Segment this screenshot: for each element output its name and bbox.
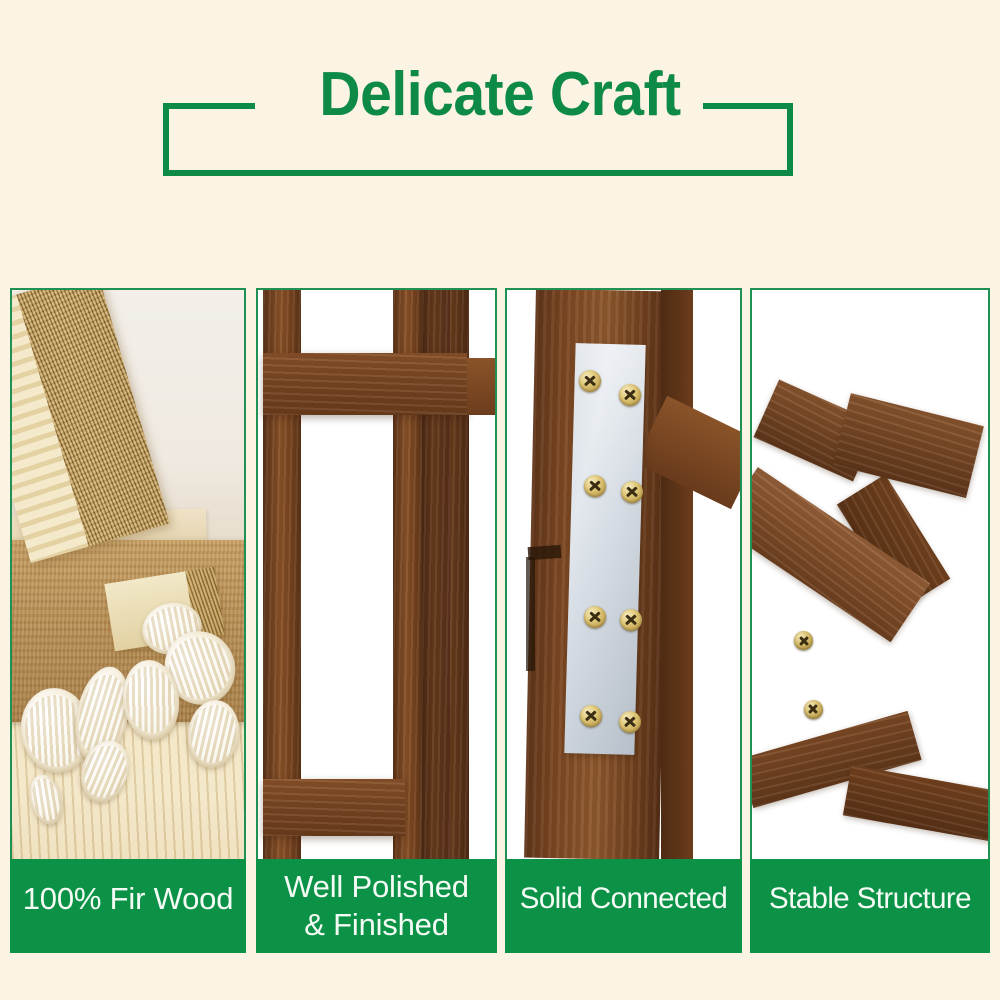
horizontal-rail-lower	[263, 779, 405, 836]
screw-head	[804, 700, 823, 719]
photo-solid-connected-art	[507, 290, 740, 859]
feature-panel-grid: 100% Fir Wood Well Polished & Finished	[0, 288, 1000, 953]
page-title: Delicate Craft	[40, 64, 960, 126]
photo-well-polished	[256, 288, 497, 859]
caption-stable-structure: Stable Structure	[750, 859, 990, 953]
photo-fir-wood-art	[12, 290, 244, 859]
photo-well-polished-art	[258, 290, 495, 859]
screw-icon	[619, 711, 641, 733]
screw-icon	[584, 606, 606, 628]
caption-well-polished: Well Polished & Finished	[256, 859, 497, 953]
feature-panel-solid-connected: Solid Connected	[505, 288, 742, 953]
feature-panel-stable-structure: Stable Structure	[750, 288, 990, 953]
caption-solid-connected: Solid Connected	[505, 859, 742, 953]
feature-panel-fir-wood: 100% Fir Wood	[10, 288, 246, 953]
screw-head	[794, 631, 813, 650]
screw-icon	[794, 631, 813, 650]
screw-icon	[584, 475, 606, 497]
screw-icon	[621, 481, 643, 503]
joint-seam	[526, 557, 535, 671]
photo-solid-connected	[505, 288, 742, 859]
header-area: Delicate Craft	[0, 0, 1000, 270]
screw-icon	[619, 384, 641, 406]
horizontal-rail-right	[467, 358, 495, 415]
screw-icon	[620, 609, 642, 631]
photo-stable-structure	[750, 288, 990, 859]
photo-stable-structure-art	[752, 290, 988, 859]
feature-panel-well-polished: Well Polished & Finished	[256, 288, 497, 953]
wood-post-rear	[661, 290, 694, 859]
photo-fir-wood	[10, 288, 246, 859]
screw-icon	[579, 370, 601, 392]
horizontal-rail	[263, 353, 467, 416]
screw-icon	[804, 700, 823, 719]
caption-fir-wood: 100% Fir Wood	[10, 859, 246, 953]
